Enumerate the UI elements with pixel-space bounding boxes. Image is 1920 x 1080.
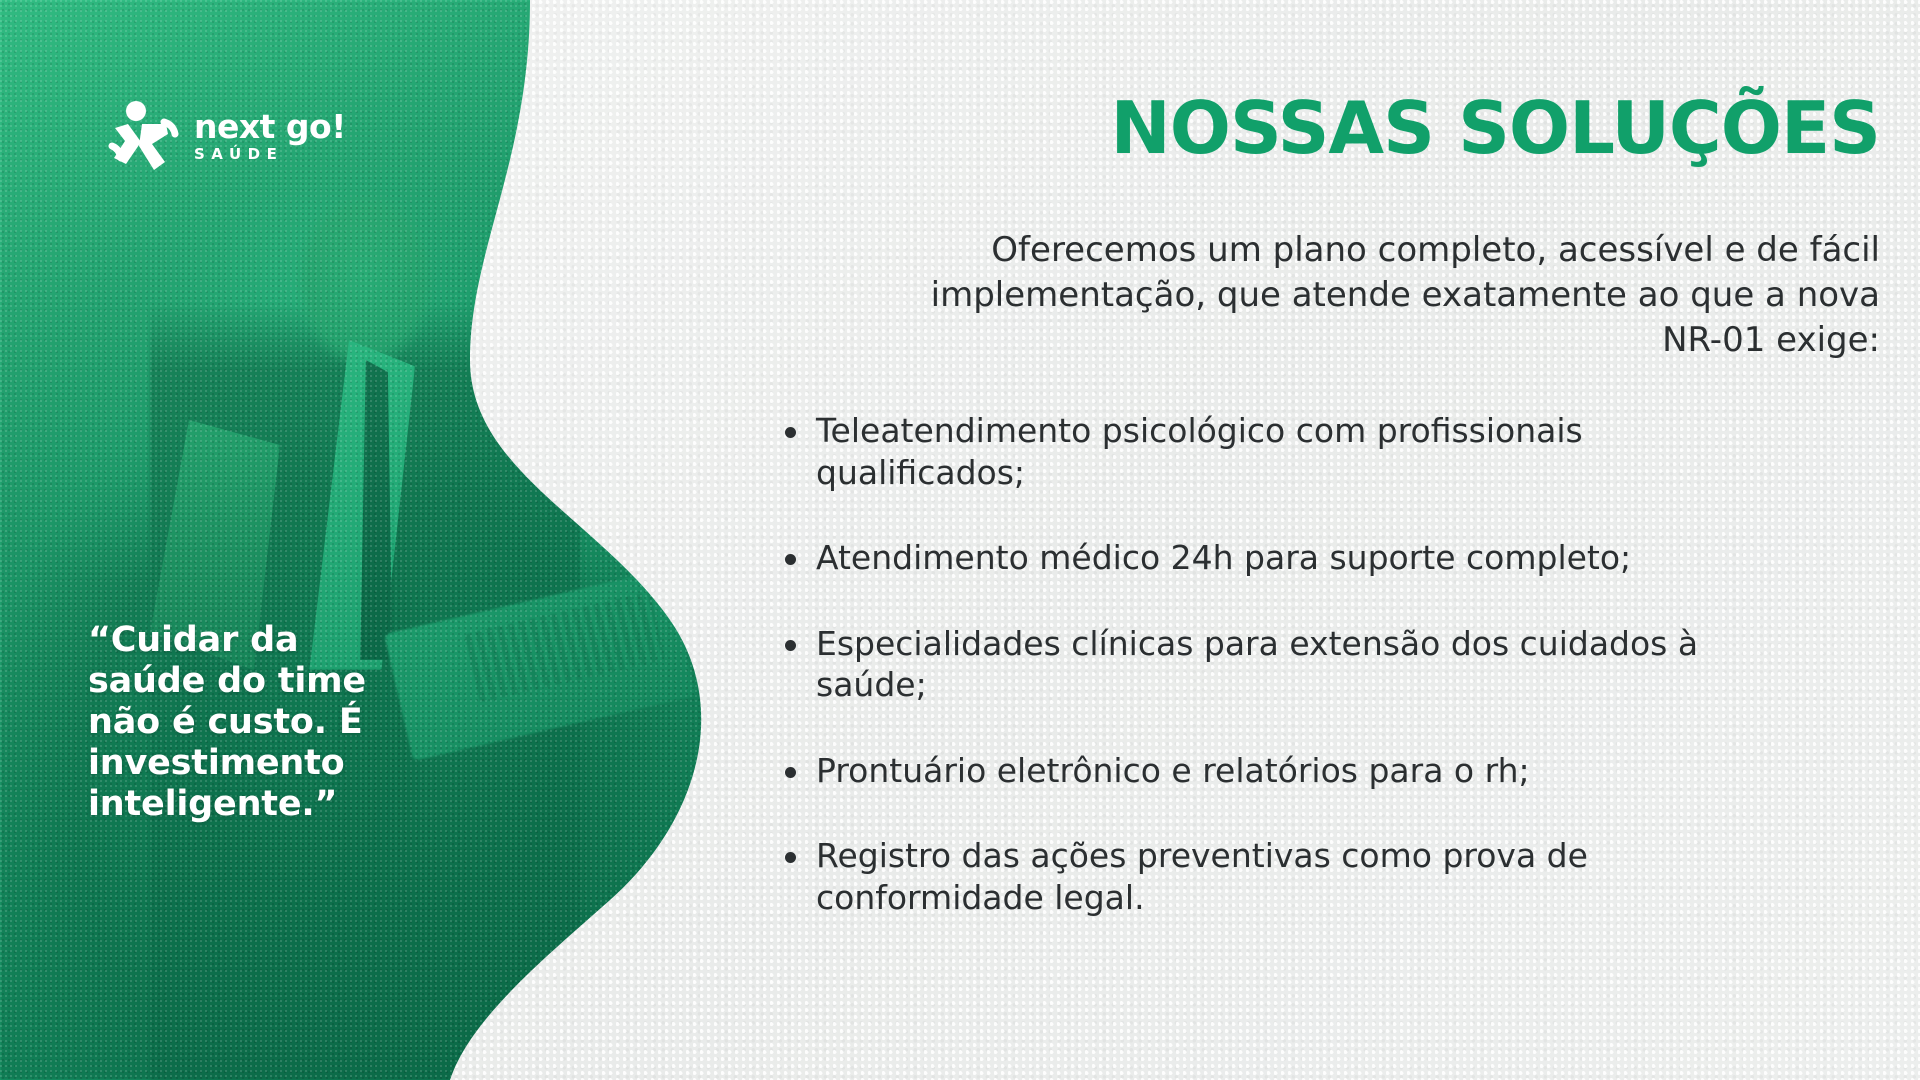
slide-root: next go! SAÚDE “Cuidar da saúde do time … bbox=[0, 0, 1920, 1080]
list-item: Registro das ações preventivas como prov… bbox=[785, 835, 1795, 918]
brand-logo[interactable]: next go! SAÚDE bbox=[108, 98, 346, 174]
intro-paragraph: Oferecemos um plano completo, acessível … bbox=[930, 228, 1880, 364]
brand-name: next go! bbox=[194, 110, 346, 143]
list-item: Atendimento médico 24h para suporte comp… bbox=[785, 537, 1795, 579]
bullet-dot-icon bbox=[785, 852, 796, 863]
content-area: NOSSAS SOLUÇÕES Oferecemos um plano comp… bbox=[700, 0, 1920, 1080]
brand-subtitle: SAÚDE bbox=[194, 147, 346, 162]
quote-text: “Cuidar da saúde do time não é custo. É … bbox=[88, 620, 418, 825]
list-item-label: Registro das ações preventivas como prov… bbox=[816, 835, 1746, 918]
list-item: Especialidades clínicas para extensão do… bbox=[785, 623, 1795, 706]
list-item-label: Prontuário eletrônico e relatórios para … bbox=[816, 750, 1530, 792]
list-item: Prontuário eletrônico e relatórios para … bbox=[785, 750, 1795, 792]
person-x-figure-icon bbox=[108, 98, 180, 174]
solutions-list: Teleatendimento psicológico com profissi… bbox=[785, 410, 1795, 963]
list-item-label: Especialidades clínicas para extensão do… bbox=[816, 623, 1746, 706]
list-item-label: Atendimento médico 24h para suporte comp… bbox=[816, 537, 1631, 579]
bullet-dot-icon bbox=[785, 640, 796, 651]
list-item-label: Teleatendimento psicológico com profissi… bbox=[816, 410, 1746, 493]
bullet-dot-icon bbox=[785, 554, 796, 565]
list-item: Teleatendimento psicológico com profissi… bbox=[785, 410, 1795, 493]
page-title: NOSSAS SOLUÇÕES bbox=[1110, 92, 1880, 164]
bullet-dot-icon bbox=[785, 767, 796, 778]
bullet-dot-icon bbox=[785, 427, 796, 438]
